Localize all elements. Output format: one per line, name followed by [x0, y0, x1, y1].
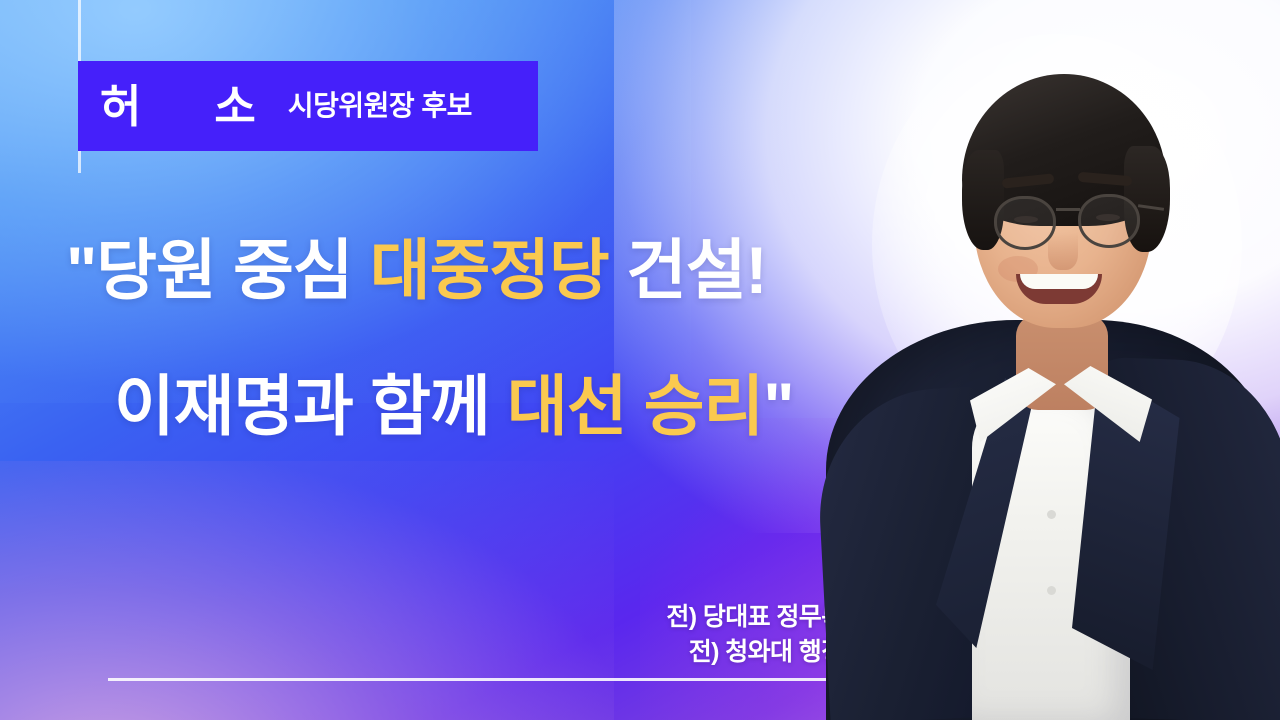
slogan-block: "당원 중심 대중정당 건설! 이재명과 함께 대선 승리" [62, 236, 952, 442]
slogan-line-1-highlight: 대중정당 [370, 233, 609, 307]
candidate-name-badge: 허 소 시당위원장 후보 [78, 61, 538, 151]
slogan-line-2: 이재명과 함께 대선 승리" [62, 372, 952, 442]
slogan-line-1-part-1: 당원 중심 [96, 233, 370, 307]
background-bottomleft-glow [0, 461, 614, 720]
candidate-role: 시당위원장 후보 [288, 92, 472, 120]
credential-line: 전) 청와대 행정관 [666, 635, 866, 670]
slogan-line-1-part-2: 건설! [609, 233, 767, 307]
close-quote-mark: " [763, 369, 793, 443]
slogan-line-1: "당원 중심 대중정당 건설! [62, 236, 952, 306]
slogan-line-2-part-1: 이재명과 함께 [114, 369, 507, 443]
campaign-poster: 허 소 시당위원장 후보 "당원 중심 대중정당 건설! 이재명과 함께 대선 … [0, 0, 1280, 720]
background-violet-accent [640, 418, 1229, 720]
credential-line: 전) 당대표 정무특보 [666, 600, 866, 635]
candidate-name: 허 소 [100, 84, 272, 129]
open-quote-mark: " [66, 233, 96, 307]
horizontal-rule-decoration [108, 678, 908, 681]
slogan-line-2-highlight: 대선 승리 [507, 369, 763, 443]
credentials-block: 전) 당대표 정무특보 전) 청와대 행정관 [666, 600, 866, 669]
